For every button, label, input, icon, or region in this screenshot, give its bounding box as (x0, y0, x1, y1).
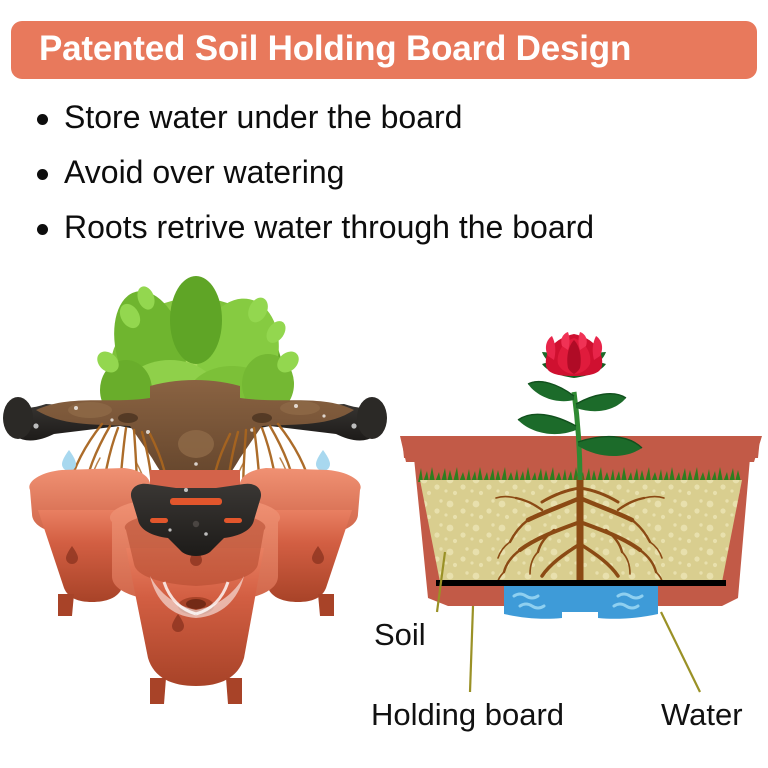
water-reservoir (504, 586, 658, 619)
product-photo-illustration (0, 258, 390, 718)
cross-section-illustration (392, 330, 768, 630)
bullet-text: Roots retrive water through the board (64, 207, 594, 248)
bullet-text: Store water under the board (64, 97, 462, 138)
label-holding-board: Holding board (371, 697, 564, 733)
page-title: Patented Soil Holding Board Design (39, 29, 631, 69)
bullet-dot-icon (37, 169, 48, 180)
list-item: Avoid over watering (30, 152, 740, 207)
header-banner: Patented Soil Holding Board Design (11, 21, 757, 79)
product-photo-planter (0, 258, 390, 718)
feature-bullet-list: Store water under the board Avoid over w… (30, 97, 740, 262)
label-soil: Soil (374, 617, 426, 653)
bullet-dot-icon (37, 224, 48, 235)
bullet-dot-icon (37, 114, 48, 125)
label-water: Water (661, 697, 743, 733)
holding-board-line (436, 580, 726, 586)
list-item: Roots retrive water through the board (30, 207, 740, 262)
bullet-text: Avoid over watering (64, 152, 344, 193)
list-item: Store water under the board (30, 97, 740, 152)
cross-section-diagram (392, 330, 768, 630)
